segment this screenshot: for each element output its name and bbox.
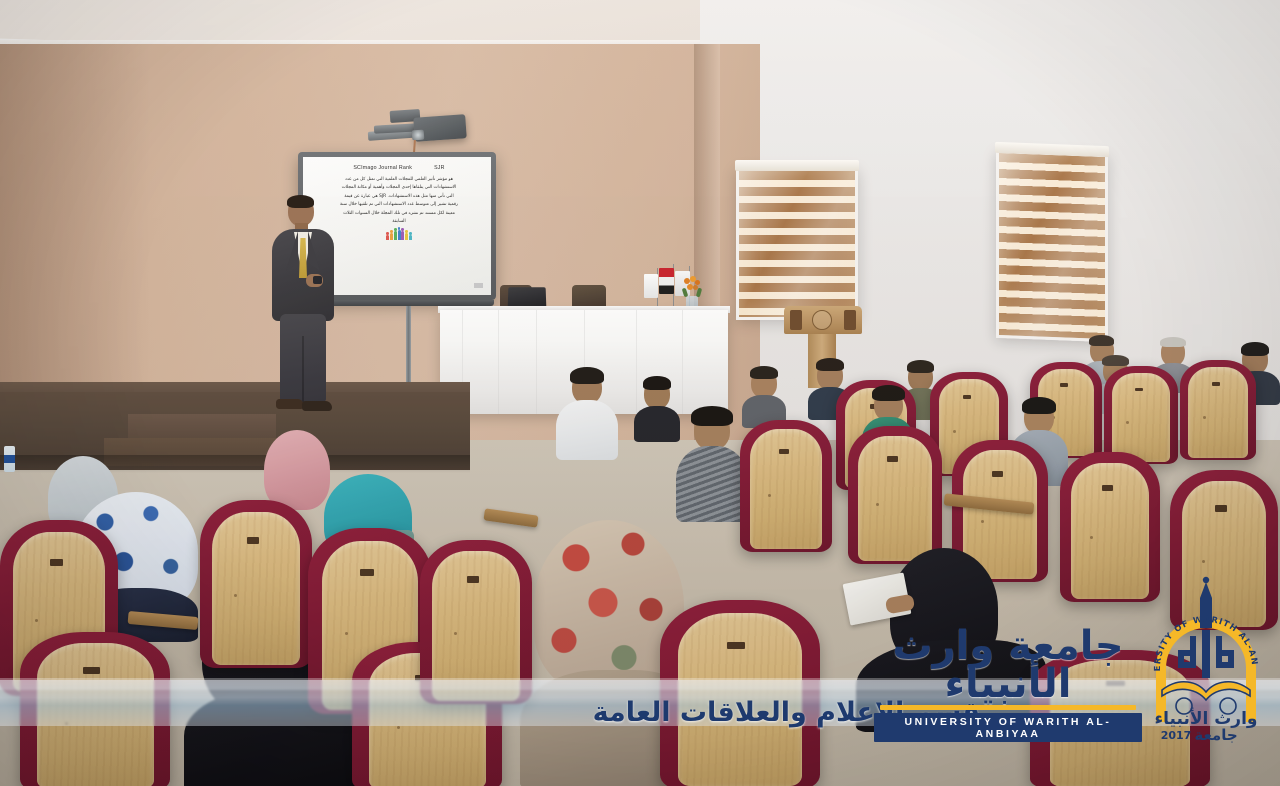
window-blind-left	[736, 168, 858, 320]
presenter-trouser-crease	[302, 336, 304, 402]
podium-inlay	[790, 310, 802, 330]
flag-white	[644, 274, 658, 298]
podium-inlay	[844, 310, 856, 330]
university-wordmark: جامعة وارث الأنبياء UNIVERSITY OF WARITH…	[874, 627, 1142, 742]
flower-bouquet	[682, 276, 702, 302]
water-bottle	[4, 446, 15, 472]
slide-title-main: SCImago Journal Rank	[353, 165, 412, 171]
flag-iraq	[659, 268, 674, 294]
presenter-shoe	[276, 399, 304, 409]
auditorium-seat[interactable]	[740, 420, 832, 552]
crest-year: 2017	[1161, 729, 1192, 742]
crest-ring-text: UNIVERSITY OF WARITH AL-ANBIYAA	[1142, 572, 1260, 671]
slide-title-abbr: SJR	[434, 165, 445, 171]
people-group-icon	[386, 230, 412, 240]
presenter-speaker	[262, 196, 342, 414]
slide-corner-logo	[474, 283, 483, 288]
projector-lens	[412, 130, 425, 141]
stage-step	[128, 414, 276, 440]
presenter-remote-clicker	[313, 276, 322, 284]
blind-valance	[735, 160, 859, 171]
wordmark-arabic: جامعة وارث الأنبياء	[874, 627, 1142, 703]
presenter-hair	[287, 195, 314, 208]
svg-text:UNIVERSITY OF WARITH AL-ANBIYA: UNIVERSITY OF WARITH AL-ANBIYAA	[1142, 572, 1260, 671]
slide-body-line: هو مؤشر تأثير العلمي للمجلات العلمية الت…	[317, 176, 480, 184]
audience-woman-pink-hijab	[264, 430, 330, 508]
window-glare	[999, 153, 1105, 339]
auditorium-seat[interactable]	[200, 500, 312, 668]
window-blind-right	[996, 150, 1108, 342]
auditorium-seat[interactable]	[1180, 360, 1256, 460]
auditorium-seat[interactable]	[1104, 366, 1178, 464]
crest-kufic-motif	[1178, 630, 1234, 678]
audience-man-striped-shirt	[676, 410, 748, 520]
audience-man-gray-shirt	[742, 368, 786, 426]
crest-open-book-icon	[1162, 682, 1250, 700]
crest-arabic-bottom: جامعة	[1194, 726, 1237, 744]
audience-man-black-shirt	[634, 378, 680, 440]
slide-title: SCImago Journal RankSJR	[313, 165, 485, 171]
window-glare	[739, 171, 855, 317]
slide-body-line: الاستشهادات التي يتلقاها إحدى المجلات وأ…	[317, 184, 480, 192]
screenshot-root: SCImago Journal RankSJR هو مؤشر تأثير ال…	[0, 0, 1280, 786]
wordmark-english: UNIVERSITY OF WARITH AL-ANBIYAA	[874, 713, 1142, 742]
presenter-shoe	[302, 401, 332, 411]
audience-man-white-shirt	[556, 370, 618, 458]
podium-seal-icon	[812, 310, 832, 330]
university-crest-logo: UNIVERSITY OF WARITH AL-ANBIYAA وارث الأ…	[1142, 572, 1270, 744]
auditorium-seat[interactable]	[848, 426, 942, 564]
